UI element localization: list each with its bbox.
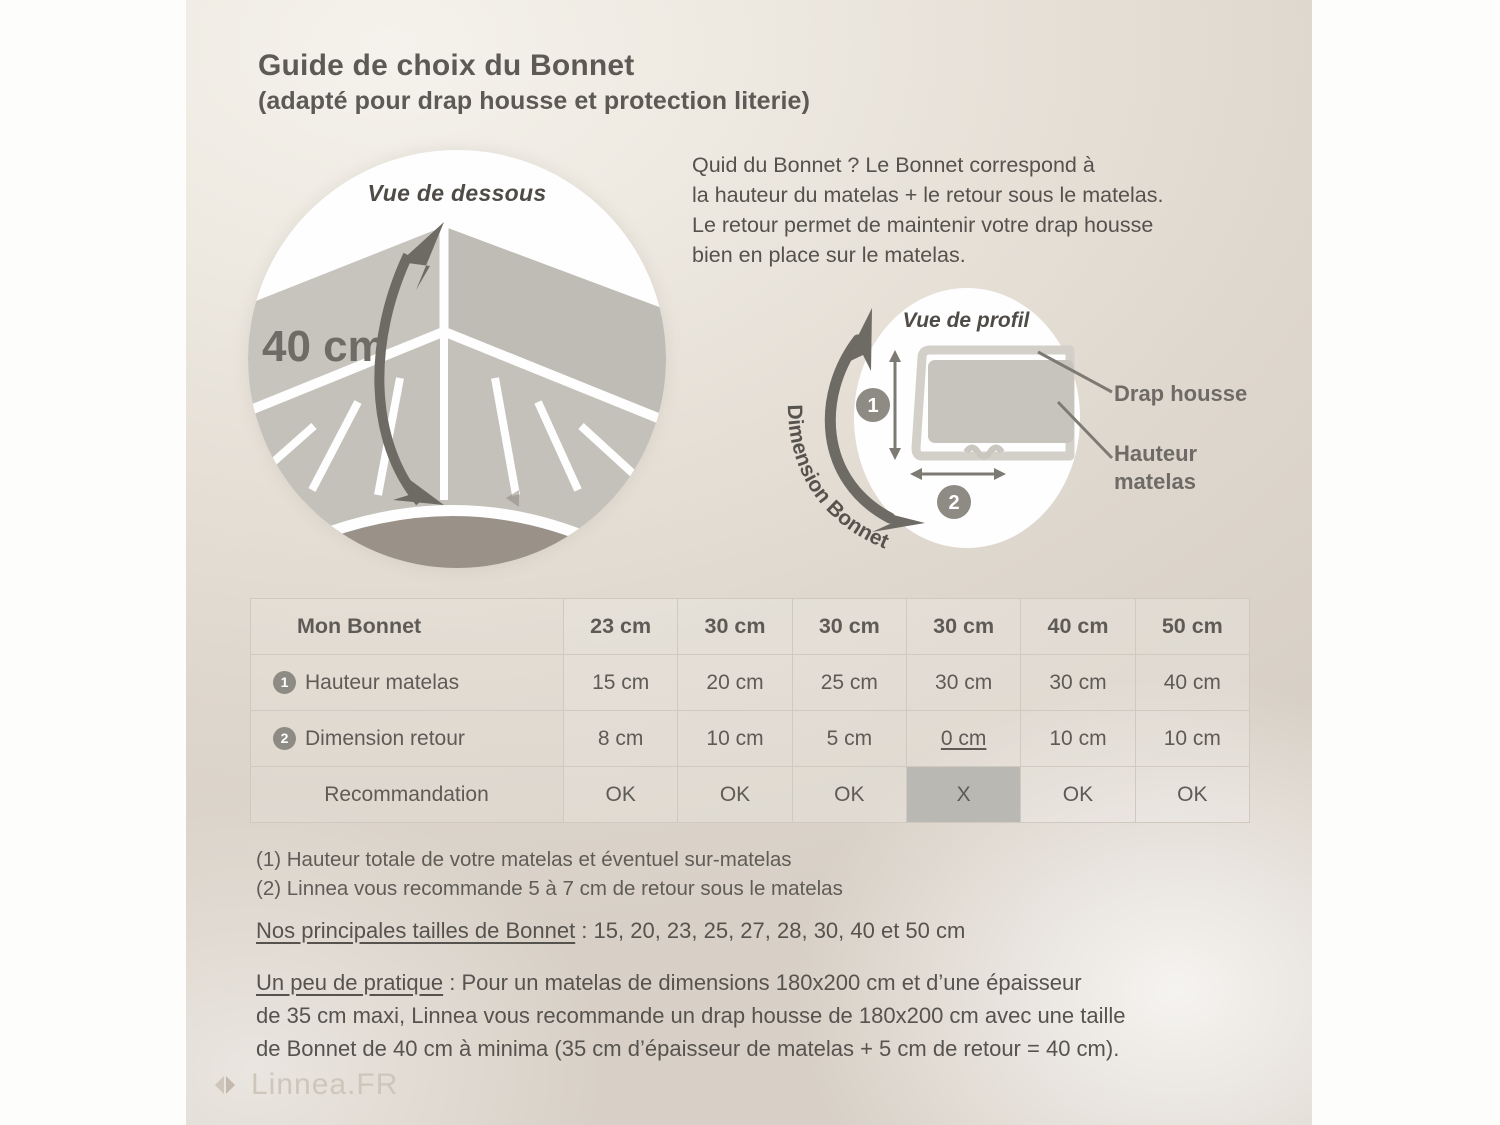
linnea-logo-text: Linnea.FR [251, 1068, 398, 1102]
table-row-dimension-retour: 2Dimension retour 8 cm 10 cm 5 cm 0 cm 1… [251, 711, 1250, 767]
retour-col-3: 0 cm [906, 711, 1020, 767]
row-label-dimension-retour: 2Dimension retour [251, 711, 564, 767]
label-drap-housse: Drap housse [1114, 380, 1247, 408]
diagram-vue-de-dessous: Vue de dessous 40 cm [248, 150, 666, 568]
retour-col-5: 10 cm [1135, 711, 1249, 767]
intro-paragraph: Quid du Bonnet ? Le Bonnet correspond à … [692, 150, 1262, 270]
table-row-recommandation: Recommandation OK OK OK X OK OK [251, 767, 1250, 823]
mattress-body [928, 360, 1074, 443]
row-label-retour-text: Dimension retour [305, 727, 465, 750]
header-col-1: 30 cm [678, 599, 792, 655]
label-hauteur-line-1: Hauteur [1114, 440, 1197, 468]
table-header-row: Mon Bonnet 23 cm 30 cm 30 cm 30 cm 40 cm… [251, 599, 1250, 655]
intro-line-2: la hauteur du matelas + le retour sous l… [692, 180, 1262, 210]
hauteur-col-1: 20 cm [678, 655, 792, 711]
table-row-hauteur-matelas: 1Hauteur matelas 15 cm 20 cm 25 cm 30 cm… [251, 655, 1250, 711]
linnea-logo[interactable]: Linnea.FR [213, 1068, 398, 1102]
row-marker-2: 2 [273, 727, 296, 750]
reco-col-1: OK [678, 767, 792, 823]
retour-col-3-value: 0 cm [941, 727, 987, 750]
retour-col-1: 10 cm [678, 711, 792, 767]
caption-vue-de-dessous: Vue de dessous [368, 180, 547, 206]
label-hauteur-matelas: Hauteur matelas [1114, 440, 1197, 496]
retour-col-4: 10 cm [1021, 711, 1135, 767]
diagram-vue-de-profil-group: 1 2 Vue de profil Dimension Bonnet Drap … [770, 280, 1290, 580]
reco-col-2: OK [792, 767, 906, 823]
header-col-0: 23 cm [564, 599, 678, 655]
reco-col-4: OK [1021, 767, 1135, 823]
sizes-line: Nos principales tailles de Bonnet : 15, … [256, 918, 1256, 944]
retour-col-0: 8 cm [564, 711, 678, 767]
pratique-block: Un peu de pratique : Pour un matelas de … [256, 966, 1266, 1065]
retour-col-2: 5 cm [792, 711, 906, 767]
row-label-hauteur-text: Hauteur matelas [305, 671, 459, 694]
intro-line-1: Quid du Bonnet ? Le Bonnet correspond à [692, 150, 1262, 180]
row-marker-1: 1 [273, 671, 296, 694]
marker-1-label: 1 [867, 395, 878, 417]
hauteur-col-4: 30 cm [1021, 655, 1135, 711]
bonnet-table: Mon Bonnet 23 cm 30 cm 30 cm 30 cm 40 cm… [250, 598, 1250, 823]
sizes-label: Nos principales tailles de Bonnet [256, 918, 575, 943]
linnea-diamond-icon [213, 1072, 239, 1098]
footnote-2: (2) Linnea vous recommande 5 à 7 cm de r… [256, 874, 1236, 903]
header-col-4: 40 cm [1021, 599, 1135, 655]
marker-2-label: 2 [948, 492, 959, 514]
header-col-3: 30 cm [906, 599, 1020, 655]
page-title: Guide de choix du Bonnet (adapté pour dr… [258, 48, 1018, 118]
header-col-5: 50 cm [1135, 599, 1249, 655]
reco-col-0: OK [564, 767, 678, 823]
arrow-head-top [844, 308, 872, 371]
reco-col-3: X [906, 767, 1020, 823]
title-line-1: Guide de choix du Bonnet [258, 48, 1018, 84]
title-line-2: (adapté pour drap housse et protection l… [258, 84, 1018, 118]
header-label: Mon Bonnet [251, 599, 564, 655]
profile-illustration: 1 2 Vue de profil Dimension Bonnet [770, 280, 1290, 580]
intro-line-3: Le retour permet de maintenir votre drap… [692, 210, 1262, 240]
row-label-hauteur-matelas: 1Hauteur matelas [251, 655, 564, 711]
footnote-1: (1) Hauteur totale de votre matelas et é… [256, 845, 1236, 874]
pratique-line-3: de Bonnet de 40 cm à minima (35 cm d’épa… [256, 1032, 1266, 1065]
header-col-2: 30 cm [792, 599, 906, 655]
pratique-text-1: : Pour un matelas de dimensions 180x200 … [443, 970, 1081, 995]
footnotes: (1) Hauteur totale de votre matelas et é… [256, 845, 1236, 903]
hauteur-col-5: 40 cm [1135, 655, 1249, 711]
label-hauteur-line-2: matelas [1114, 468, 1197, 496]
hauteur-col-2: 25 cm [792, 655, 906, 711]
pratique-line-2: de 35 cm maxi, Linnea vous recommande un… [256, 999, 1266, 1032]
pratique-label: Un peu de pratique [256, 970, 443, 995]
caption-vue-de-profil: Vue de profil [903, 309, 1031, 332]
reco-col-5: OK [1135, 767, 1249, 823]
intro-line-4: bien en place sur le matelas. [692, 240, 1262, 270]
measure-40cm: 40 cm [262, 322, 387, 372]
hauteur-col-0: 15 cm [564, 655, 678, 711]
row-label-recommandation: Recommandation [251, 767, 564, 823]
sizes-value: : 15, 20, 23, 25, 27, 28, 30, 40 et 50 c… [575, 918, 965, 943]
infographic-page: Guide de choix du Bonnet (adapté pour dr… [0, 0, 1500, 1125]
hauteur-col-3: 30 cm [906, 655, 1020, 711]
pratique-line-1: Un peu de pratique : Pour un matelas de … [256, 966, 1266, 999]
